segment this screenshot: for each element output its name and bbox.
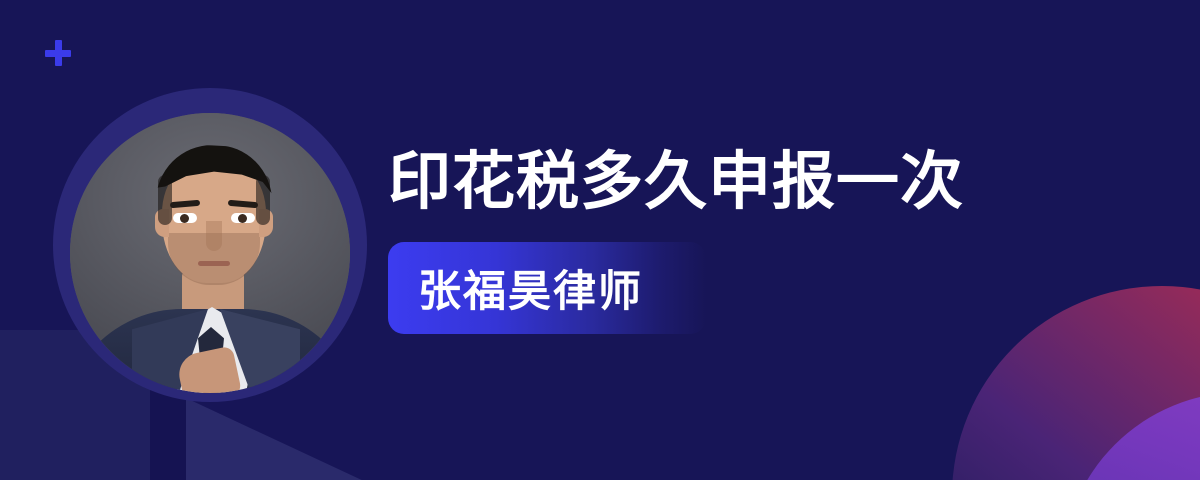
- page-title: 印花税多久申报一次: [388, 148, 1148, 217]
- portrait-sideburn-left: [158, 175, 172, 225]
- plus-icon-vertical-bar: [55, 40, 62, 66]
- portrait-eye-right: [231, 213, 255, 223]
- plus-icon: [45, 40, 71, 66]
- avatar-photo: [70, 113, 350, 393]
- portrait-eye-left: [173, 213, 197, 223]
- avatar: [53, 88, 367, 402]
- portrait-nose: [206, 221, 222, 251]
- orb-purple-shape: [1062, 392, 1200, 480]
- banner-content: 印花税多久申报一次 张福昊律师: [388, 148, 1148, 334]
- article-cover-banner: 印花税多久申报一次 张福昊律师: [0, 0, 1200, 480]
- author-name-label: 张福昊律师: [418, 257, 643, 319]
- author-badge[interactable]: 张福昊律师: [388, 242, 706, 334]
- portrait-sideburn-right: [256, 175, 270, 225]
- wedge-triangle-shape: [186, 398, 366, 480]
- portrait-mouth: [198, 261, 230, 266]
